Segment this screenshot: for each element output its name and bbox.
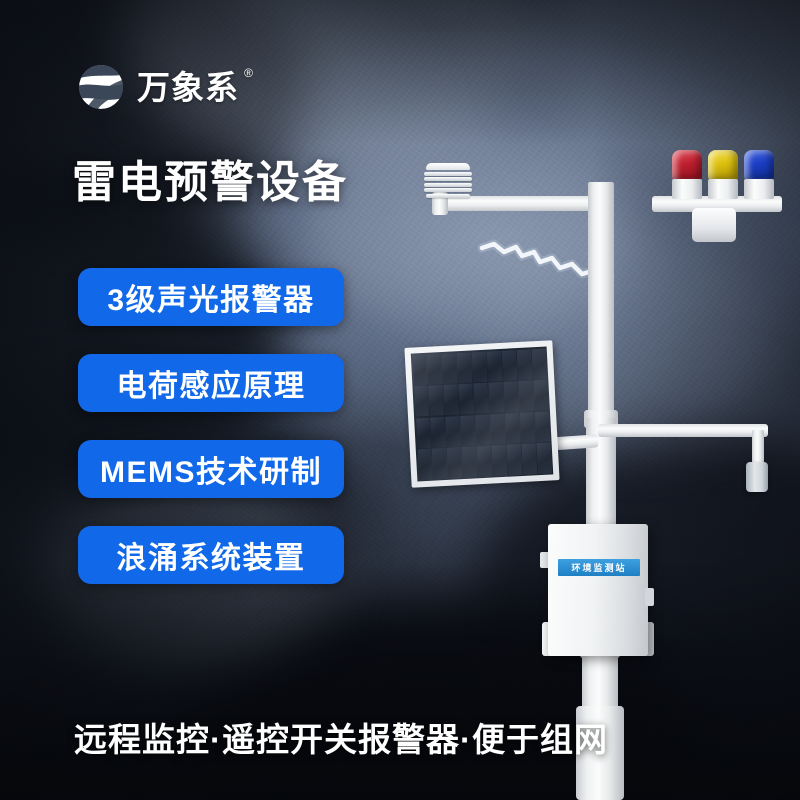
tagline: 远程监控·遥控开关报警器·便于组网 bbox=[74, 713, 608, 761]
feature-pill: 浪涌系统装置 bbox=[78, 526, 344, 584]
brand-name-wrapper: 万象系 ® bbox=[137, 71, 239, 104]
registered-trademark-icon: ® bbox=[244, 67, 254, 79]
feature-pill: 电荷感应原理 bbox=[78, 354, 344, 412]
swoosh-sphere-icon bbox=[76, 62, 126, 112]
feature-pill-list: 3级声光报警器 电荷感应原理 MEMS技术研制 浪涌系统装置 bbox=[78, 268, 344, 584]
brand-logo: 万象系 ® bbox=[76, 62, 239, 112]
poster-root: 环境监测站 万象系 ® 雷电预警设备 3级声光报警器 电荷感应原理 MEMS技术… bbox=[0, 0, 800, 800]
feature-pill: MEMS技术研制 bbox=[78, 440, 344, 498]
brand-name: 万象系 bbox=[137, 69, 239, 106]
page-title: 雷电预警设备 bbox=[72, 161, 348, 205]
feature-pill: 3级声光报警器 bbox=[78, 268, 344, 326]
